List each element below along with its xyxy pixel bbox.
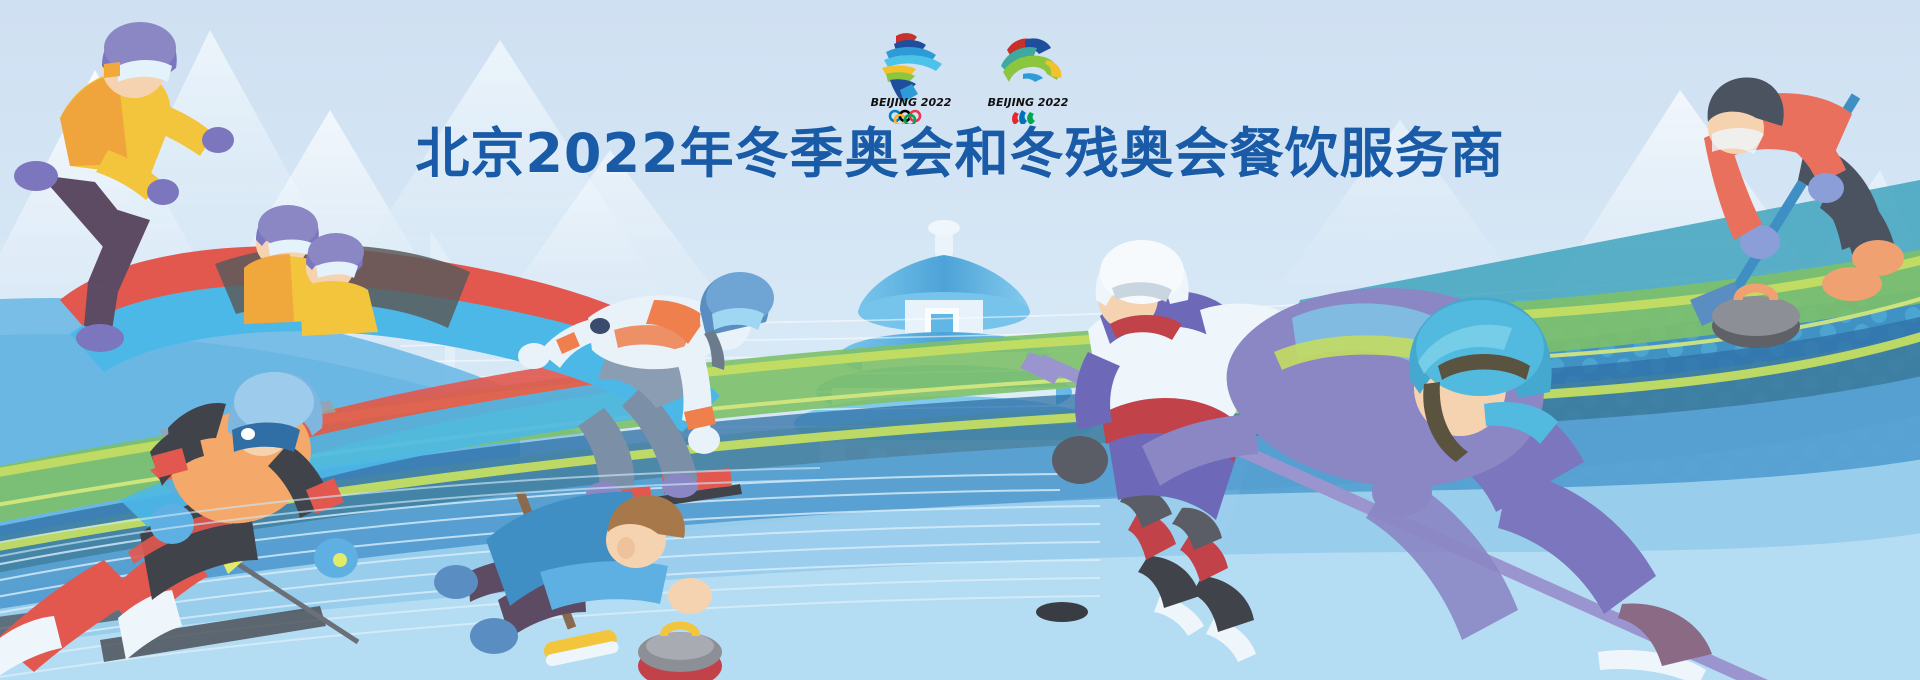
beijing-2022-paralympic-logo: BEIJING 2022 [977,24,1080,124]
hk-skate-back [1138,556,1200,608]
curler-hand [668,578,712,614]
cross-country-skier [0,372,358,678]
paralympic-ribbon-mark [1001,38,1061,82]
ss-hand-front [688,426,720,454]
pusher-goggle-strap [104,62,120,78]
hk-glove-low [1052,436,1108,484]
paralympic-wordmark: BEIJING 2022 [988,96,1069,109]
olympic-emblem-svg: BEIJING 2022 [860,24,963,124]
rider2-body [300,281,378,336]
emblem-group: BEIJING 2022 [860,24,1080,124]
curler-ear [617,537,635,559]
xc-glove-left [150,504,194,544]
olympic-banner: BEIJING 2022 [0,0,1920,680]
curling-broom-head [542,628,619,667]
curler-boot-back [434,565,478,599]
curler-sliding [434,492,722,680]
sr-glove [1372,468,1432,516]
beijing-2022-olympic-logo: BEIJING 2022 [860,24,963,124]
curling-stone-bottom [638,626,722,680]
ss-logo-dot [590,318,610,334]
paralympic-emblem-svg: BEIJING 2022 [977,24,1080,124]
xc-glove-dot [333,553,347,567]
ss-hand-back [518,343,550,369]
olympic-wordmark: BEIJING 2022 [871,96,952,109]
pusher-boot-front [76,324,124,352]
hockey-puck [1036,602,1088,622]
curler-sweeping [1690,77,1904,348]
ss-boot-front [662,474,698,498]
curler-boot-front [470,618,518,654]
xc-visor-glint [241,428,255,440]
ss-leg-back [578,408,634,494]
curler-arm-low [540,561,668,610]
sweep-shoe-front [1822,267,1882,301]
olympic-ribbon-mark [882,33,942,102]
pusher-glove-lower [147,179,179,205]
rider1-body-shade [244,254,294,324]
page-title: 北京2022年冬季奥会和冬残奥会餐饮服务商 [0,126,1920,183]
